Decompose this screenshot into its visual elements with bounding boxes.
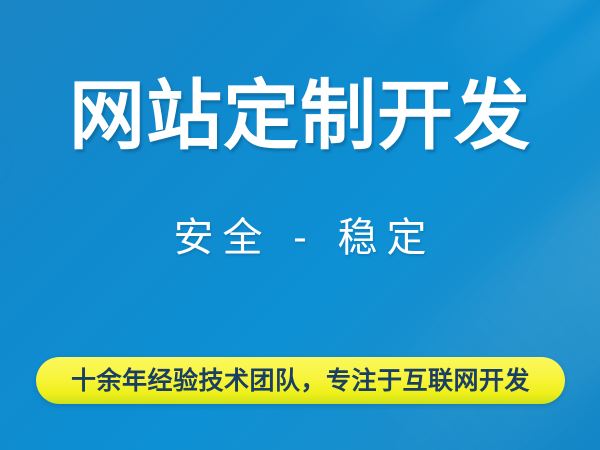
tagline-text: 十余年经验技术团队，专注于互联网开发 [71, 368, 530, 393]
banner-content: 网站定制开发 安全 - 稳定 十余年经验技术团队，专注于互联网开发 [0, 0, 600, 450]
promo-banner: 网站定制开发 安全 - 稳定 十余年经验技术团队，专注于互联网开发 [0, 0, 600, 450]
tagline-pill: 十余年经验技术团队，专注于互联网开发 [36, 357, 565, 404]
main-headline: 网站定制开发 [0, 78, 600, 154]
sub-headline: 安全 - 稳定 [0, 218, 600, 258]
